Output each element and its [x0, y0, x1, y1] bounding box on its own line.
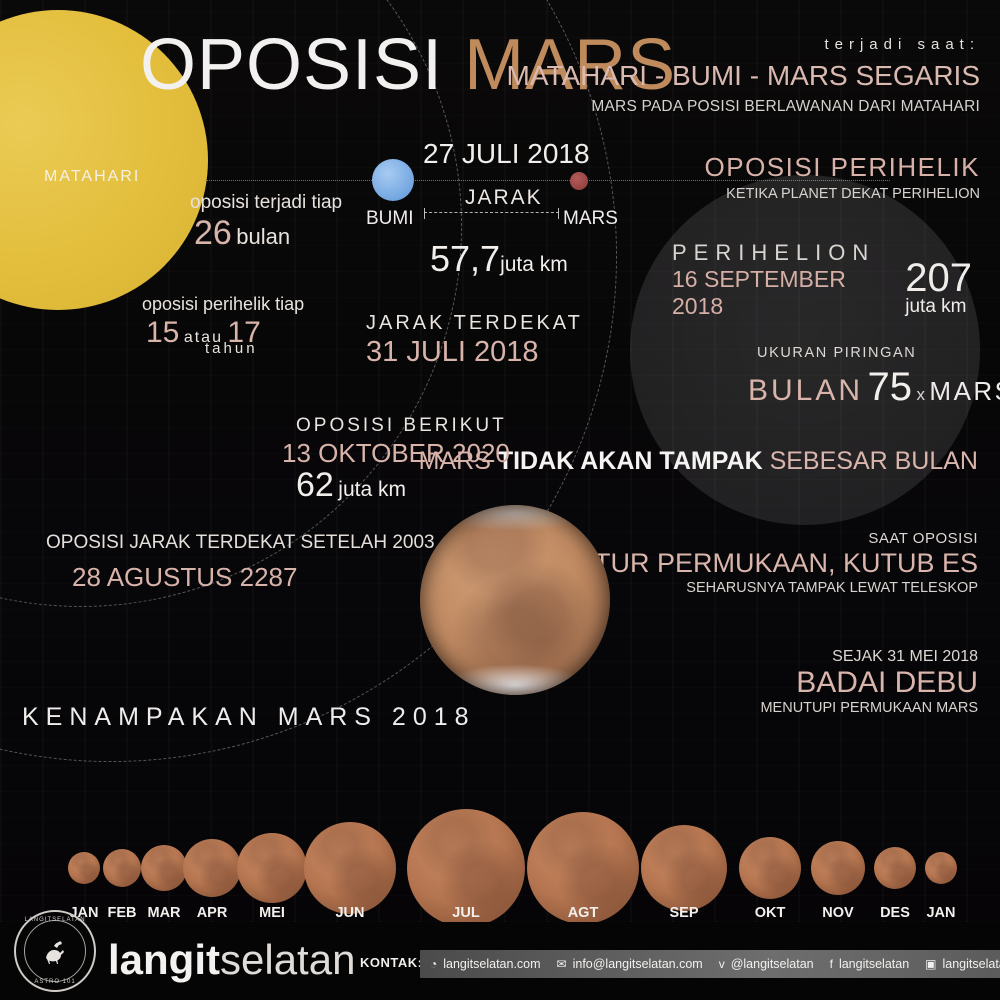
footer-bar: LANGITSELATAN ASTRO 101 langitselatan KO… — [0, 922, 1000, 1000]
note-part-c: SEBESAR BULAN — [770, 447, 978, 475]
mars-disk-jun-5 — [304, 822, 396, 914]
month-label-4: MEI — [246, 905, 298, 921]
month-label-3: APR — [186, 905, 238, 921]
logo-inner-ring — [24, 920, 86, 982]
contact-text: info@langitselatan.com — [573, 957, 703, 971]
perihelion-distance-value: 207 — [905, 260, 972, 296]
langitselatan-logo: LANGITSELATAN ASTRO 101 — [14, 910, 96, 992]
distance-measure-bar — [424, 212, 559, 213]
record-opposition-label: OPOSISI JARAK TERDEKAT SETELAH 2003 — [46, 532, 435, 554]
mars-disk-jan-12 — [925, 852, 957, 884]
surface-kicker: SAAT OPOSISI — [868, 530, 978, 547]
contact-text: @langitselatan — [731, 957, 814, 971]
disk-times-symbol: x — [916, 385, 925, 404]
month-label-5: JUN — [324, 905, 376, 921]
opposition-date: 27 JULI 2018 — [423, 138, 590, 170]
header-line-one: MATAHARI - BUMI - MARS SEGARIS — [507, 60, 980, 92]
title-part-one: OPOSISI — [140, 25, 443, 105]
next-opposition-value: 62 — [296, 466, 334, 504]
surface-sub: SEHARUSNYA TAMPAK LEWAT TELESKOP — [686, 580, 978, 596]
perihelion-date: 16 SEPTEMBER 2018 — [672, 266, 893, 320]
contact-text: langitselatan — [839, 957, 909, 971]
brand-part-one: langit — [108, 936, 220, 983]
mars-photo-graphic — [420, 505, 610, 695]
month-label-8: SEP — [658, 905, 710, 921]
distance-value: 57,7 — [430, 238, 500, 279]
perihelic-value-one: 15 — [146, 316, 179, 349]
contact-item-envelope[interactable]: ✉info@langitselatan.com — [557, 957, 703, 971]
contact-item-instagram[interactable]: ▣langitselatanmedia — [925, 957, 1000, 971]
header-line-two: MARS PADA POSISI BERLAWANAN DARI MATAHAR… — [591, 98, 980, 116]
contact-text: langitselatanmedia — [943, 957, 1000, 971]
facebook-icon: f — [830, 957, 833, 971]
mars-label: MARS — [563, 208, 618, 230]
perihelion-distance-unit: juta km — [905, 296, 972, 318]
sun-label: MATAHARI — [44, 168, 140, 186]
infographic-poster: MATAHARI OPOSISI MARS terjadi saat: MATA… — [0, 0, 1000, 1000]
contact-item-facebook[interactable]: flangitselatan — [830, 957, 910, 971]
opposition-interval-value: 26 — [194, 214, 232, 252]
month-label-11: DES — [869, 905, 921, 921]
distance-value-row: 57,7juta km — [430, 238, 568, 280]
mars-dot-graphic — [570, 172, 588, 190]
disk-size-values: BULAN 75 x MARS — [748, 365, 1000, 410]
earth-graphic — [372, 159, 414, 201]
mars-disk-feb-1 — [103, 849, 141, 887]
contact-bar: ◔langitselatan.com✉info@langitselatan.co… — [420, 950, 1000, 978]
opposition-interval-unit: bulan — [236, 224, 290, 249]
earth-label: BUMI — [366, 208, 414, 230]
storm-sub: MENUTUPI PERMUKAAN MARS — [760, 700, 978, 716]
opposition-interval-value-row: 26 bulan — [194, 214, 290, 253]
mars-disk-sep-8 — [641, 825, 727, 911]
contact-label: KONTAK: — [360, 955, 422, 970]
centaur-icon — [38, 934, 72, 968]
perihelion-block: PERIHELION 16 SEPTEMBER 2018 207 juta km — [672, 240, 972, 320]
next-opposition-distance-row: 62 juta km — [296, 466, 406, 505]
brand-part-two: selatan — [220, 936, 355, 983]
mars-disk-mei-4 — [237, 833, 307, 903]
closest-approach-label: JARAK TERDEKAT — [366, 312, 583, 335]
disk-factor-value: 75 — [868, 365, 913, 409]
month-label-6: JUL — [440, 905, 492, 921]
perihelic-interval-label: oposisi perihelik tiap — [142, 294, 304, 315]
disk-size-label: UKURAN PIRINGAN — [757, 345, 916, 361]
perihelion-label: PERIHELION — [672, 240, 893, 266]
perihelic-heading: OPOSISI PERIHELIK — [705, 152, 980, 183]
mars-disk-okt-9 — [739, 837, 801, 899]
next-opposition-label: OPOSISI BERIKUT — [296, 415, 507, 437]
rss-icon: ◔ — [430, 957, 437, 971]
note-part-b: TIDAK AKAN TAMPAK — [498, 447, 770, 475]
storm-heading: BADAI DEBU — [796, 666, 978, 700]
contact-item-rss[interactable]: ◔langitselatan.com — [430, 957, 541, 971]
mars-disk-des-11 — [874, 847, 916, 889]
strip-title: KENAMPAKAN MARS 2018 — [22, 703, 476, 732]
contact-text: langitselatan.com — [443, 957, 540, 971]
logo-bottom-text: ASTRO 101 — [16, 979, 94, 985]
instagram-icon: ▣ — [925, 957, 936, 971]
record-opposition-date: 28 AGUSTUS 2287 — [72, 562, 297, 593]
distance-unit: juta km — [500, 253, 568, 276]
opposition-interval-label: oposisi terjadi tiap — [190, 192, 342, 214]
month-label-9: OKT — [744, 905, 796, 921]
header-kicker: terjadi saat: — [824, 36, 980, 53]
surface-heading: FITUR PERMUKAAN, KUTUB ES — [570, 548, 978, 579]
mars-disk-apr-3 — [183, 839, 241, 897]
disk-moon-label: BULAN — [748, 374, 863, 407]
twitter-icon: ᴠ — [719, 957, 725, 971]
distance-caption: JARAK — [465, 186, 543, 210]
logo-top-text: LANGITSELATAN — [16, 917, 94, 923]
mars-disk-nov-10 — [811, 841, 865, 895]
closest-approach-date: 31 JULI 2018 — [366, 336, 539, 369]
perihelic-interval-unit: tahun — [205, 340, 258, 357]
disk-mars-label: MARS — [929, 376, 1000, 406]
envelope-icon: ✉ — [557, 957, 567, 971]
next-opposition-unit: juta km — [338, 478, 406, 501]
perihelic-subheading: KETIKA PLANET DEKAT PERIHELION — [726, 186, 980, 202]
mars-disk-mar-2 — [141, 845, 187, 891]
month-label-7: AGT — [557, 905, 609, 921]
month-label-12: JAN — [915, 905, 967, 921]
month-label-10: NOV — [812, 905, 864, 921]
contact-item-twitter[interactable]: ᴠ@langitselatan — [719, 957, 814, 971]
next-opposition-date: 13 OKTOBER 2020 — [282, 438, 510, 469]
storm-kicker: SEJAK 31 MEI 2018 — [832, 648, 978, 666]
mars-disk-jan-0 — [68, 852, 100, 884]
month-label-2: MAR — [138, 905, 190, 921]
brand-wordmark: langitselatan — [108, 936, 355, 984]
